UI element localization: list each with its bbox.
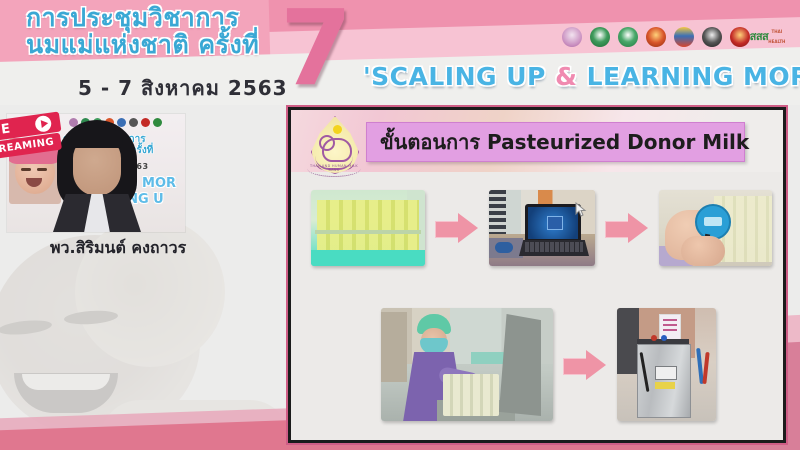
arrow-3 — [561, 348, 609, 382]
photo-nurse-loading-bottles — [381, 308, 553, 421]
slogan-ampersand: & — [555, 62, 577, 91]
conference-slogan: 'SCALING UP & LEARNING MORE' — [363, 62, 800, 91]
pasteurized-human-milk-bank-logo: THAILAND HUMAN MILK BANK — [305, 116, 363, 178]
photo-pasteurizer-machine — [617, 308, 716, 421]
process-row-2 — [381, 308, 716, 421]
sss-subtext: THAI HEALTH — [768, 27, 785, 47]
process-row-1 — [311, 190, 772, 266]
conference-header: การประชุมวิชาการ นมแม่แห่งชาติ ครั้งที่ … — [0, 0, 800, 105]
arrow-1 — [433, 211, 481, 245]
photo-milk-bottle-rack — [311, 190, 425, 266]
thai-breastfeeding-foundation-logo — [560, 24, 583, 50]
red-seal-logo — [728, 24, 751, 50]
sponsor-logo-row: สสส THAI HEALTH — [560, 24, 779, 50]
royal-emblem-logo — [644, 24, 667, 50]
slogan-close: LEARNING MORE' — [577, 62, 800, 91]
logo-ring-text: THAILAND HUMAN MILK BANK — [305, 164, 363, 172]
conference-date: 5 - 7 สิงหาคม 2563 — [78, 72, 288, 104]
slogan-open: 'SCALING UP — [363, 62, 555, 91]
royal-thai-government-logo — [672, 24, 695, 50]
slide-title-text: ขั้นตอนการ Pasteurized Donor Milk — [380, 126, 749, 158]
edition-number: 7 — [280, 0, 352, 100]
slide-screenshot: การประชุมวิชาการ นมแม่แห่งชาติ ครั้งที่ … — [0, 0, 800, 450]
slide-content-frame: THAILAND HUMAN MILK BANK ขั้นตอนการ Past… — [288, 107, 786, 443]
speaker-figure — [49, 120, 145, 232]
photo-thermometer-check — [659, 190, 772, 266]
national-institute-logo — [700, 24, 723, 50]
speaker-name: พว.สิริมนต์ คงถาวร — [50, 236, 186, 261]
slide-title-banner: ขั้นตอนการ Pasteurized Donor Milk — [366, 122, 745, 162]
department-health-logo — [616, 24, 639, 50]
sss-text: สสส — [750, 32, 769, 42]
thaihealth-sss-logo: สสส THAI HEALTH — [756, 24, 779, 50]
conference-title-line1: การประชุมวิชาการ — [26, 3, 239, 32]
arrow-2 — [603, 211, 651, 245]
conference-title: การประชุมวิชาการ นมแม่แห่งชาติ ครั้งที่ — [26, 4, 296, 58]
conference-title-line2: นมแม่แห่งชาติ ครั้งที่ — [26, 31, 296, 58]
mouse-pointer — [575, 202, 587, 218]
ministry-public-health-logo — [588, 24, 611, 50]
